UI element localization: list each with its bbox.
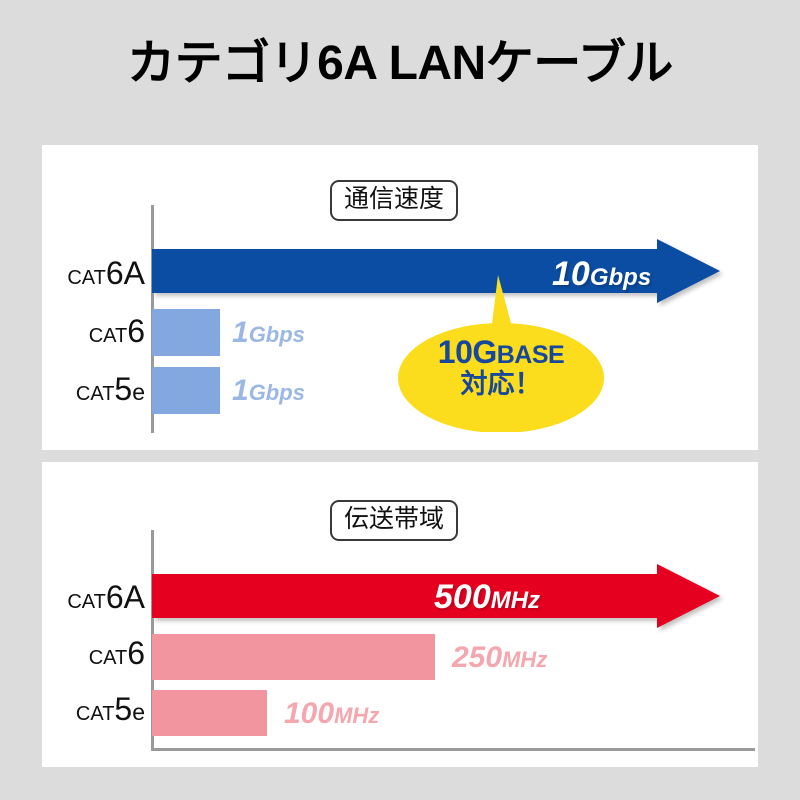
cat-prefix: CAT — [76, 703, 115, 725]
value-unit: MHz — [334, 703, 379, 728]
cat-suffix: A — [124, 579, 145, 615]
bandwidth-value-label-cat6a: 500MHz — [434, 580, 540, 614]
cat-prefix: CAT — [89, 325, 128, 347]
cat-suffix: A — [124, 255, 145, 291]
cat-number: 6 — [106, 255, 124, 291]
cat-number: 6 — [127, 313, 145, 349]
value-number: 250 — [452, 641, 502, 674]
speech-bubble-10gbase — [396, 272, 606, 432]
cat-prefix: CAT — [89, 647, 128, 669]
cat-number: 6 — [106, 579, 124, 615]
bandwidth-bar-cat6 — [152, 634, 435, 680]
cat-prefix: CAT — [67, 267, 106, 289]
value-number: 1 — [232, 316, 249, 349]
bandwidth-bar-cat5e — [152, 690, 267, 736]
value-unit: MHz — [491, 587, 540, 614]
caption-speed: 通信速度 — [330, 180, 458, 221]
cat-number: 6 — [127, 635, 145, 671]
bandwidth-chart-x-axis — [151, 748, 755, 751]
cat-prefix: CAT — [76, 383, 115, 405]
speed-bar-cat6 — [152, 309, 220, 356]
value-number: 500 — [434, 578, 491, 616]
speed-category-label-cat6a: CAT6A — [42, 257, 145, 289]
bandwidth-category-label-cat5e: CAT5e — [42, 693, 145, 725]
speed-category-label-cat6: CAT6 — [42, 315, 145, 347]
value-unit: Gbps — [249, 380, 305, 405]
value-unit: Gbps — [249, 322, 305, 347]
speed-bar-cat5e — [152, 367, 220, 414]
cat-number: 5 — [114, 691, 132, 727]
bandwidth-value-label-cat6: 250MHz — [452, 643, 547, 673]
speed-category-label-cat5e: CAT5e — [42, 373, 145, 405]
caption-bandwidth: 伝送帯域 — [330, 500, 458, 541]
cat-suffix: e — [132, 699, 145, 725]
bandwidth-category-label-cat6a: CAT6A — [42, 581, 145, 613]
cat-number: 5 — [114, 371, 132, 407]
cat-suffix: e — [132, 379, 145, 405]
bandwidth-value-label-cat5e: 100MHz — [284, 699, 379, 729]
speed-value-label-cat5e: 1Gbps — [232, 376, 305, 406]
value-unit: MHz — [502, 647, 547, 672]
cat-prefix: CAT — [67, 591, 106, 613]
value-number: 1 — [232, 374, 249, 407]
bandwidth-category-label-cat6: CAT6 — [42, 637, 145, 669]
speed-value-label-cat6: 1Gbps — [232, 318, 305, 348]
value-number: 100 — [284, 697, 334, 730]
page-title: カテゴリ6A LANケーブル — [0, 38, 800, 91]
